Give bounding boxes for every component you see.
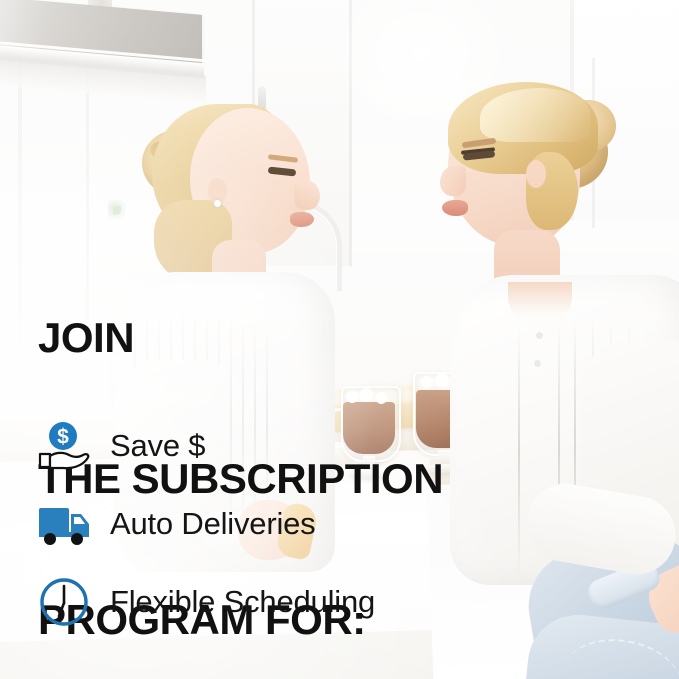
blouse-button xyxy=(536,332,543,339)
benefit-item-scheduling: Flexible Scheduling xyxy=(36,574,375,630)
mother-nose xyxy=(440,166,466,196)
daughter-earring xyxy=(214,200,221,207)
promotional-banner: JOIN THE SUBSCRIPTION PROGRAM FOR: $ Sav… xyxy=(0,0,679,679)
mother-hair-highlight xyxy=(480,88,590,142)
benefit-label: Auto Deliveries xyxy=(110,506,315,542)
money-in-hand-icon: $ xyxy=(36,418,92,474)
benefit-item-save: $ Save $ xyxy=(36,418,375,474)
svg-text:$: $ xyxy=(57,426,69,449)
pleat-line xyxy=(518,328,520,578)
blouse-button xyxy=(534,360,541,367)
mother-lips xyxy=(442,200,468,216)
benefits-list: $ Save $ Auto Deliveries xyxy=(36,418,375,630)
benefit-label: Save $ xyxy=(110,428,205,464)
mother-ear xyxy=(526,160,546,188)
benefit-item-delivery: Auto Deliveries xyxy=(36,496,375,552)
benefit-label: Flexible Scheduling xyxy=(110,584,375,620)
headline-line-1: JOIN xyxy=(38,314,443,361)
daughter-nose xyxy=(294,180,320,210)
delivery-truck-icon xyxy=(36,496,92,552)
clock-icon xyxy=(36,574,92,630)
